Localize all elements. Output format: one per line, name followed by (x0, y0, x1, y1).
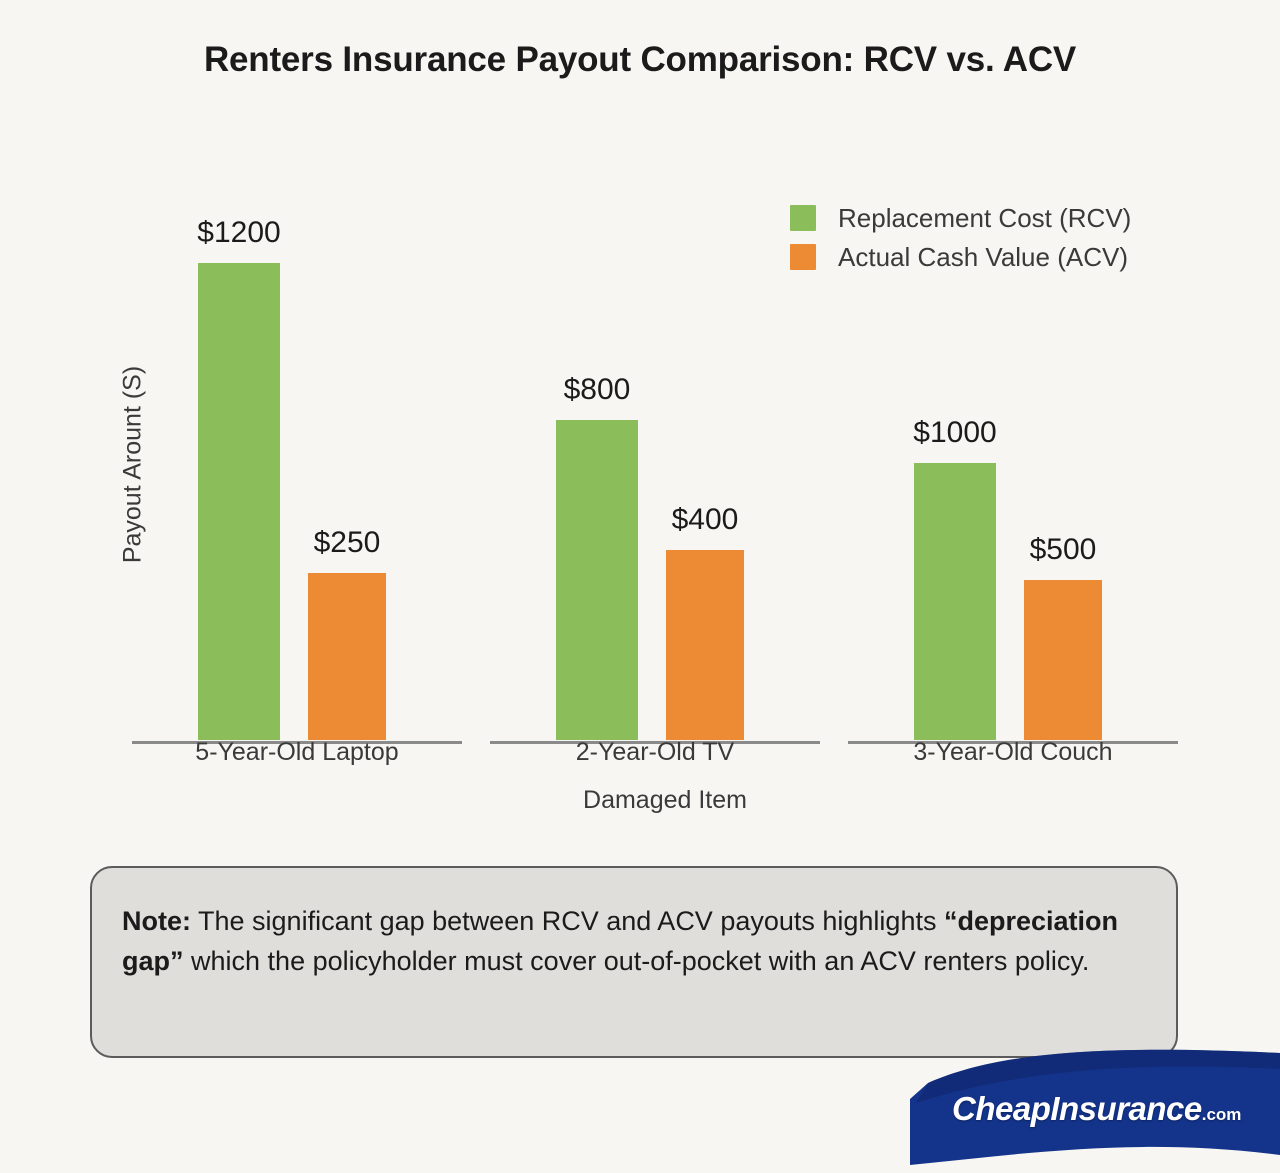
bar-value-rcv-2: $1000 (913, 416, 996, 450)
infographic-root: Renters Insurance Payout Comparison: RCV… (0, 0, 1280, 1173)
bar-acv-0[interactable]: $250 (308, 573, 386, 740)
note-callout: Note: The significant gap between RCV an… (90, 866, 1178, 1058)
note-text: Note: The significant gap between RCV an… (122, 902, 1140, 982)
logo-wordmark: CheapInsurance.com (952, 1090, 1241, 1128)
bar-rcv-0[interactable]: $1200 (198, 263, 280, 740)
bar-value-rcv-0: $1200 (197, 216, 280, 250)
bar-rcv-1[interactable]: $800 (556, 420, 638, 740)
note-part-2: which the policyholder must cover out-of… (184, 946, 1090, 976)
bar-group-1: $800 $400 (490, 20, 820, 740)
x-tick-label-1: 2-Year-Old TV (490, 738, 820, 767)
bar-group-0: $1200 $250 (132, 20, 462, 740)
bar-value-acv-2: $500 (1030, 533, 1097, 567)
bar-group-2: $1000 $500 (848, 20, 1178, 740)
brand-logo: CheapInsurance.com (910, 1043, 1280, 1173)
bar-value-acv-1: $400 (672, 503, 739, 537)
x-tick-label-0: 5-Year-Old Laptop (132, 738, 462, 767)
note-prefix: Note: (122, 906, 191, 936)
bar-acv-1[interactable]: $400 (666, 550, 744, 740)
bar-value-acv-0: $250 (314, 526, 381, 560)
bar-value-rcv-1: $800 (564, 373, 631, 407)
note-part-1: The significant gap between RCV and ACV … (191, 906, 944, 936)
bar-rcv-2[interactable]: $1000 (914, 463, 996, 740)
logo-suffix: .com (1202, 1105, 1242, 1124)
logo-name: CheapInsurance (952, 1090, 1202, 1127)
x-axis-title: Damaged Item (490, 786, 840, 815)
x-tick-label-2: 3-Year-Old Couch (848, 738, 1178, 767)
logo-swoosh-shape (910, 1043, 1280, 1173)
plot-area: $1200 $250 $800 $400 $1000 $500 (0, 0, 1280, 740)
bar-acv-2[interactable]: $500 (1024, 580, 1102, 740)
